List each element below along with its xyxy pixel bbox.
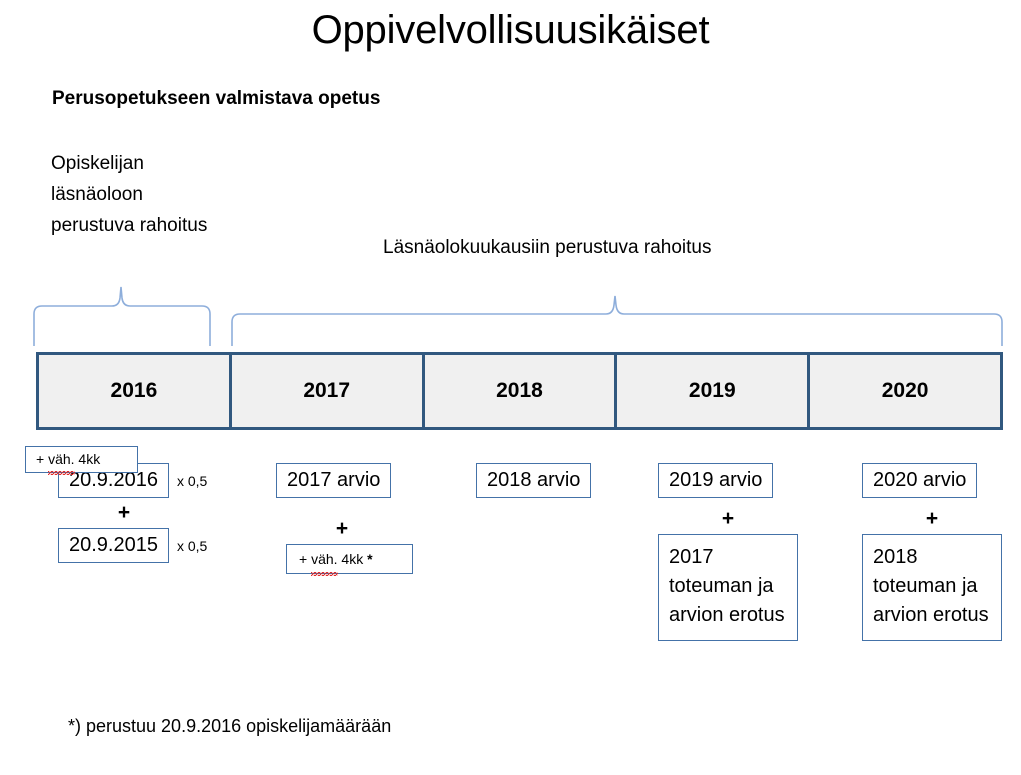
multiplier-2015: x 0,5 (177, 538, 207, 554)
column-2019: 2019 arvio + 2017 toteuman ja arvion ero… (658, 463, 848, 641)
box-2017-erotus[interactable]: 2017 toteuman ja arvion erotus (658, 534, 798, 641)
brace-right-icon (228, 296, 1006, 348)
page-title: Oppivelvollisuusikäiset (0, 8, 1021, 53)
badge-suffix: 4kk (75, 451, 101, 467)
timeline-year-bar: 2016 2017 2018 2019 2020 (36, 352, 1003, 430)
badge-prefix-2017: + (299, 551, 311, 567)
plus-2019: + (658, 504, 798, 534)
column-2016: 20.9.2016 x 0,5 + 20.9.2015 x 0,5 (58, 463, 248, 563)
column-2020: 2020 arvio + 2018 toteuman ja arvion ero… (862, 463, 1021, 641)
badge-vah-4kk-2016: + väh. 4kk (25, 446, 138, 473)
year-cell-2017[interactable]: 2017 (232, 355, 425, 427)
badge-vah-4kk-2017: + väh. 4kk * (286, 544, 413, 574)
badge-prefix: + (36, 451, 48, 467)
plus-2020: + (862, 504, 1002, 534)
column-2018: 2018 arvio (476, 463, 666, 498)
year-cell-2020[interactable]: 2020 (810, 355, 1000, 427)
plus-2016: + (58, 498, 190, 528)
caption-right-funding: Läsnäolokuukausiin perustuva rahoitus (383, 232, 712, 263)
box-2019-arvio[interactable]: 2019 arvio (658, 463, 773, 498)
box-2018-erotus[interactable]: 2018 toteuman ja arvion erotus (862, 534, 1002, 641)
badge-word-misspelled-2017: väh. (311, 545, 337, 573)
box-2020-arvio[interactable]: 2020 arvio (862, 463, 977, 498)
brace-left-icon (30, 286, 215, 348)
badge-word-misspelled: väh. (48, 447, 74, 472)
row-20-9-2015: 20.9.2015 x 0,5 (58, 528, 248, 563)
column-2017: 2017 arvio + + väh. 4kk * (276, 463, 466, 574)
year-cell-2018[interactable]: 2018 (425, 355, 618, 427)
caption-left-funding: Opiskelijan läsnäoloon perustuva rahoitu… (51, 148, 211, 241)
badge-asterisk: * (367, 551, 372, 567)
multiplier-2016: x 0,5 (177, 473, 207, 489)
year-cell-2019[interactable]: 2019 (617, 355, 810, 427)
subtitle: Perusopetukseen valmistava opetus (52, 88, 380, 110)
year-cell-2016[interactable]: 2016 (39, 355, 232, 427)
badge-suffix-2017: 4kk (338, 551, 368, 567)
slide-canvas: Oppivelvollisuusikäiset Perusopetukseen … (0, 0, 1021, 775)
plus-2017: + (276, 514, 408, 544)
box-2018-arvio[interactable]: 2018 arvio (476, 463, 591, 498)
footnote: *) perustuu 20.9.2016 opiskelijamäärään (68, 716, 391, 737)
box-2017-arvio[interactable]: 2017 arvio (276, 463, 391, 498)
box-20-9-2015[interactable]: 20.9.2015 (58, 528, 169, 563)
